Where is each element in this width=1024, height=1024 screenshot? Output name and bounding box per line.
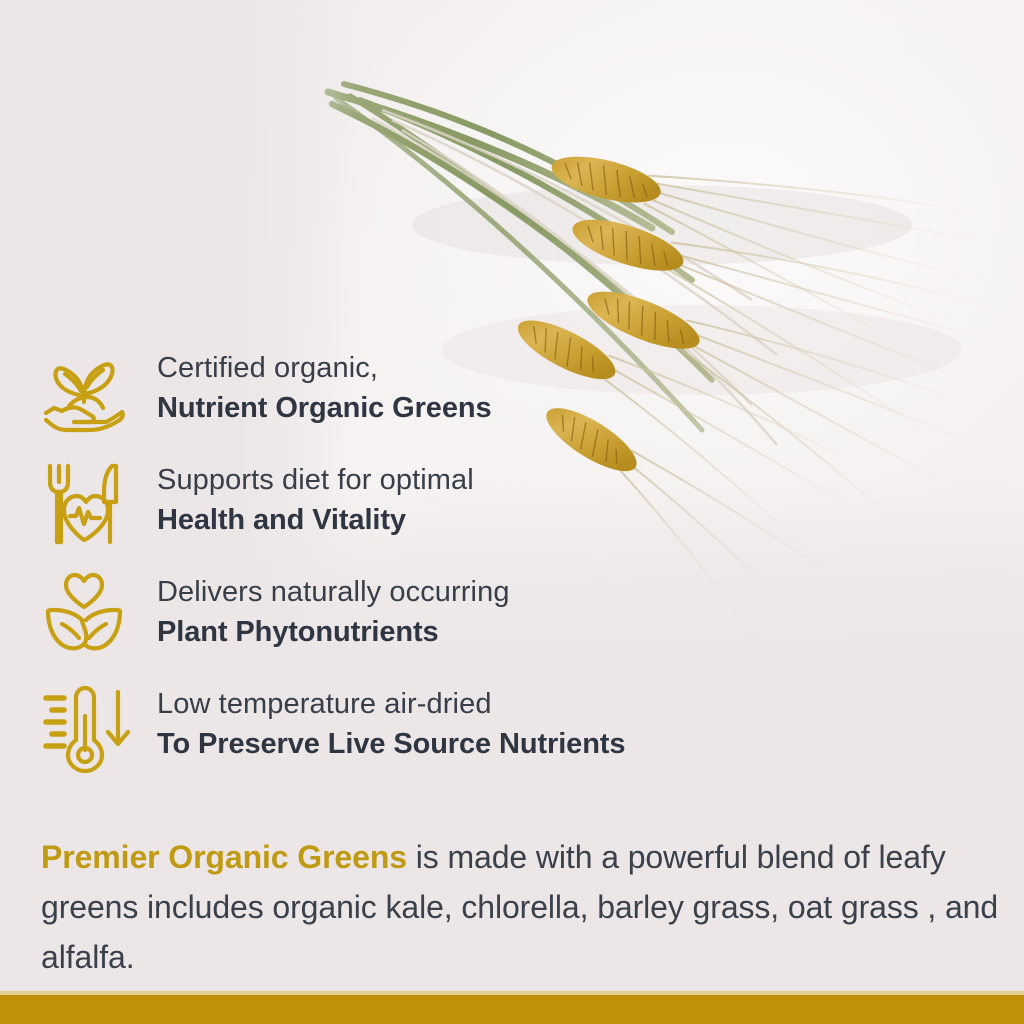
feature-line-regular: Low temperature air-dried	[157, 684, 625, 724]
feature-line-bold: Nutrient Organic Greens	[157, 388, 492, 429]
infographic-canvas: Certified organic, Nutrient Organic Gree…	[0, 0, 1024, 1024]
bottom-gold-bar	[0, 995, 1024, 1024]
feature-line-regular: Delivers naturally occurring	[157, 572, 510, 612]
feature-line-bold: Plant Phytonutrients	[157, 612, 510, 653]
feature-line-regular: Certified organic,	[157, 348, 492, 388]
feature-text: Supports diet for optimal Health and Vit…	[157, 460, 474, 541]
feature-line-regular: Supports diet for optimal	[157, 460, 474, 500]
feature-text: Low temperature air-dried To Preserve Li…	[157, 684, 625, 765]
sprout-in-hand-icon	[38, 346, 130, 438]
heart-leaves-icon	[38, 570, 130, 662]
feature-line-bold: Health and Vitality	[157, 500, 474, 541]
feature-line-bold: To Preserve Live Source Nutrients	[157, 724, 625, 765]
feature-row: Delivers naturally occurring Plant Phyto…	[0, 568, 1024, 680]
fork-knife-heart-pulse-icon	[38, 458, 130, 550]
feature-list: Certified organic, Nutrient Organic Gree…	[0, 344, 1024, 792]
feature-text: Delivers naturally occurring Plant Phyto…	[157, 572, 510, 653]
product-description: Premier Organic Greens is made with a po…	[41, 832, 1001, 982]
feature-row: Supports diet for optimal Health and Vit…	[0, 456, 1024, 568]
thermometer-down-arrow-icon	[38, 682, 130, 774]
brand-name: Premier Organic Greens	[41, 839, 407, 875]
feature-row: Low temperature air-dried To Preserve Li…	[0, 680, 1024, 792]
feature-row: Certified organic, Nutrient Organic Gree…	[0, 344, 1024, 456]
feature-text: Certified organic, Nutrient Organic Gree…	[157, 348, 492, 429]
